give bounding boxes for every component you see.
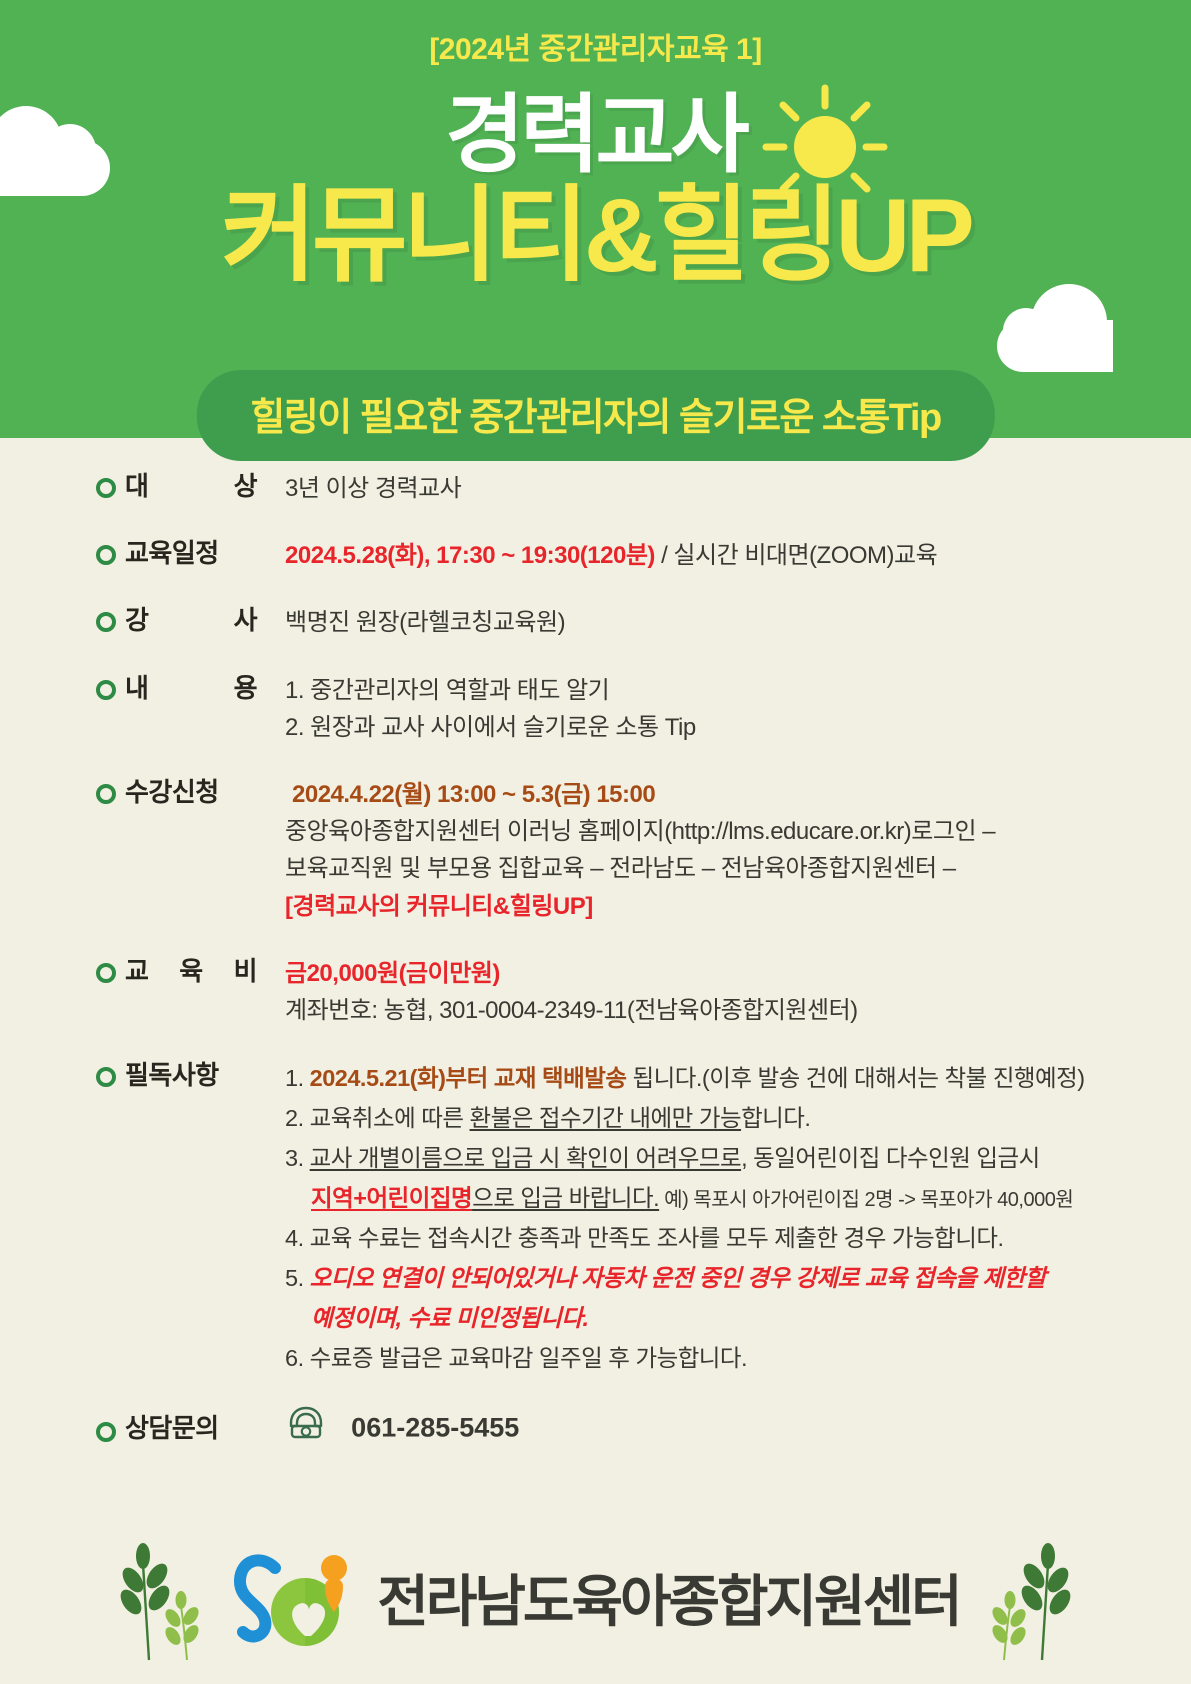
row-target: 대 상 3년 이상 경력교사 (0, 470, 1191, 507)
apply-period: 2024.4.22(월) 13:00 ~ 5.3(금) 15:00 (285, 776, 1191, 813)
apply-path-1: 중앙육아종합지원센터 이러닝 홈페이지(http://lms.educare.o… (285, 813, 1191, 850)
circle-bullet-icon (95, 1421, 117, 1443)
apply-course-name: [경력교사의 커뮤니티&힐링UP] (285, 888, 1191, 925)
label-part-a: 대 (125, 470, 148, 503)
notice-item-5b: 예정이며, 수료 미인정됩니다. (285, 1299, 1191, 1339)
content-list: 대 상 3년 이상 경력교사 교육일정 2024.5.28(화), 17:30 … (0, 470, 1191, 1452)
row-value-apply: 2024.4.22(월) 13:00 ~ 5.3(금) 15:00 중앙육아종합… (285, 776, 1191, 925)
leaf-sprig-icon (107, 1532, 217, 1662)
circle-bullet-icon (95, 783, 117, 805)
row-value-notice: 1. 2024.5.21(화)부터 교재 택배발송 됩니다.(이후 발송 건에 … (285, 1059, 1191, 1379)
row-label-instructor: 강 사 (125, 604, 285, 637)
row-label-notice: 필독사항 (125, 1059, 285, 1092)
row-label-schedule: 교육일정 (125, 537, 285, 570)
circle-bullet-icon (95, 679, 117, 701)
row-value-schedule: 2024.5.28(화), 17:30 ~ 19:30(120분) / 실시간 … (285, 537, 1191, 574)
label-part-b: 육 (179, 955, 202, 988)
telephone-icon (285, 1405, 327, 1452)
row-contents: 내 용 1. 중간관리자의 역할과 태도 알기 2. 원장과 교사 사이에서 슬… (0, 672, 1191, 746)
fee-account: 계좌번호: 농협, 301-0004-2349-11(전남육아종합지원센터) (285, 992, 1191, 1029)
label-part-b: 용 (234, 672, 257, 705)
row-inquiry: 상담문의 061-285-5455 (0, 1405, 1191, 1452)
kicker-text: [2024년 중간관리자교육 1] (0, 24, 1191, 68)
notice-item-1: 1. 2024.5.21(화)부터 교재 택배발송 됩니다.(이후 발송 건에 … (285, 1059, 1191, 1099)
notice-item-6: 6. 수료증 발급은 교육마감 일주일 후 가능합니다. (285, 1339, 1191, 1379)
row-value-fee: 금20,000원(금이만원) 계좌번호: 농협, 301-0004-2349-1… (285, 955, 1191, 1029)
label-part-c: 비 (234, 955, 257, 988)
footer: 전라남도육아종합지원센터 (0, 1532, 1191, 1662)
schedule-date: 2024.5.28(화), 17:30 ~ 19:30(120분) (285, 542, 655, 569)
circle-bullet-icon (95, 611, 117, 633)
notice-item-2: 2. 교육취소에 따른 환불은 접수기간 내에만 가능합니다. (285, 1099, 1191, 1139)
title-line-1: 경력교사 (445, 92, 745, 178)
row-value-target: 3년 이상 경력교사 (285, 470, 1191, 507)
row-label-apply: 수강신청 (125, 776, 285, 809)
label-part-a: 교 (125, 955, 148, 988)
apply-path-2: 보육교직원 및 부모용 집합교육 – 전라남도 – 전남육아종합지원센터 – (285, 850, 1191, 887)
poster-root: [2024년 중간관리자교육 1] 경력교사 커뮤니티&힐링UP 힐링이 필요한… (0, 0, 1191, 1684)
poster-title: 경력교사 커뮤니티&힐링UP (0, 92, 1191, 288)
row-apply: 수강신청 2024.4.22(월) 13:00 ~ 5.3(금) 15:00 중… (0, 776, 1191, 925)
row-schedule: 교육일정 2024.5.28(화), 17:30 ~ 19:30(120분) /… (0, 537, 1191, 574)
circle-bullet-icon (95, 544, 117, 566)
label-part-b: 상 (234, 470, 257, 503)
title-line-2: 커뮤니티&힐링UP (0, 184, 1191, 288)
notice-item-3: 3. 교사 개별이름으로 입금 시 확인이 어려우므로, 동일어린이집 다수인원… (285, 1139, 1191, 1179)
fee-amount: 금20,000원(금이만원) (285, 955, 1191, 992)
row-label-target: 대 상 (125, 470, 285, 503)
inquiry-phone[interactable]: 061-285-5455 (351, 1412, 519, 1442)
contents-line-1: 1. 중간관리자의 역할과 태도 알기 (285, 672, 1191, 709)
row-fee: 교 육 비 금20,000원(금이만원) 계좌번호: 농협, 301-0004-… (0, 955, 1191, 1029)
label-part-b: 사 (234, 604, 257, 637)
cloud-icon (997, 320, 1113, 372)
notice-item-4: 4. 교육 수료는 접속시간 충족과 만족도 조사를 모두 제출한 경우 가능합… (285, 1219, 1191, 1259)
leaf-sprig-icon (974, 1532, 1084, 1662)
sc-logo-icon (231, 1538, 363, 1656)
row-value-contents: 1. 중간관리자의 역할과 태도 알기 2. 원장과 교사 사이에서 슬기로운 … (285, 672, 1191, 746)
subtitle-pill: 힐링이 필요한 중간관리자의 슬기로운 소통Tip (196, 370, 994, 461)
label-part-a: 내 (125, 672, 148, 705)
label-part-a: 강 (125, 604, 148, 637)
circle-bullet-icon (95, 477, 117, 499)
circle-bullet-icon (95, 1066, 117, 1088)
organization-name: 전라남도육아종합지원센터 (377, 1557, 959, 1638)
row-value-inquiry: 061-285-5455 (285, 1405, 1191, 1452)
schedule-mode: / 실시간 비대면(ZOOM)교육 (655, 542, 937, 569)
row-label-contents: 내 용 (125, 672, 285, 705)
row-label-fee: 교 육 비 (125, 955, 285, 988)
row-instructor: 강 사 백명진 원장(라헬코칭교육원) (0, 604, 1191, 641)
contents-line-2: 2. 원장과 교사 사이에서 슬기로운 소통 Tip (285, 709, 1191, 746)
row-value-instructor: 백명진 원장(라헬코칭교육원) (285, 604, 1191, 641)
notice-item-3b: 지역+어린이집명으로 입금 바랍니다. 예) 목포시 아가어린이집 2명 -> … (285, 1179, 1191, 1219)
row-notice: 필독사항 1. 2024.5.21(화)부터 교재 택배발송 됩니다.(이후 발… (0, 1059, 1191, 1379)
row-label-inquiry: 상담문의 (125, 1412, 285, 1445)
notice-item-5: 5. 오디오 연결이 안되어있거나 자동차 운전 중인 경우 강제로 교육 접속… (285, 1259, 1191, 1299)
circle-bullet-icon (95, 962, 117, 984)
